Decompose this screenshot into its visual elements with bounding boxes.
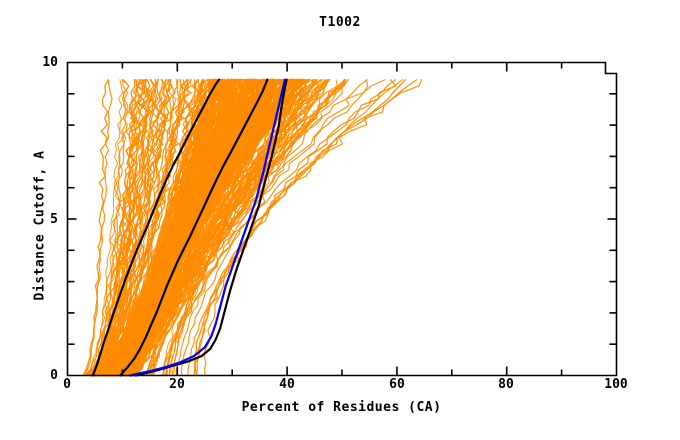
x-tick-label-80: 80 [476,377,536,392]
y-tick-label-10: 10 [18,55,58,70]
x-axis-label: Percent of Residues (CA) [67,400,616,415]
x-tick-label-60: 60 [367,377,427,392]
x-tick-label-100: 100 [586,377,646,392]
y-tick-label-5: 5 [18,212,58,227]
chart-title: T1002 [0,15,680,30]
plot-canvas [0,0,680,440]
chart-figure: T1002 Distance Cutoff, A Percent of Resi… [0,0,680,440]
x-tick-label-40: 40 [257,377,317,392]
x-tick-label-0: 0 [37,377,97,392]
x-tick-label-20: 20 [147,377,207,392]
